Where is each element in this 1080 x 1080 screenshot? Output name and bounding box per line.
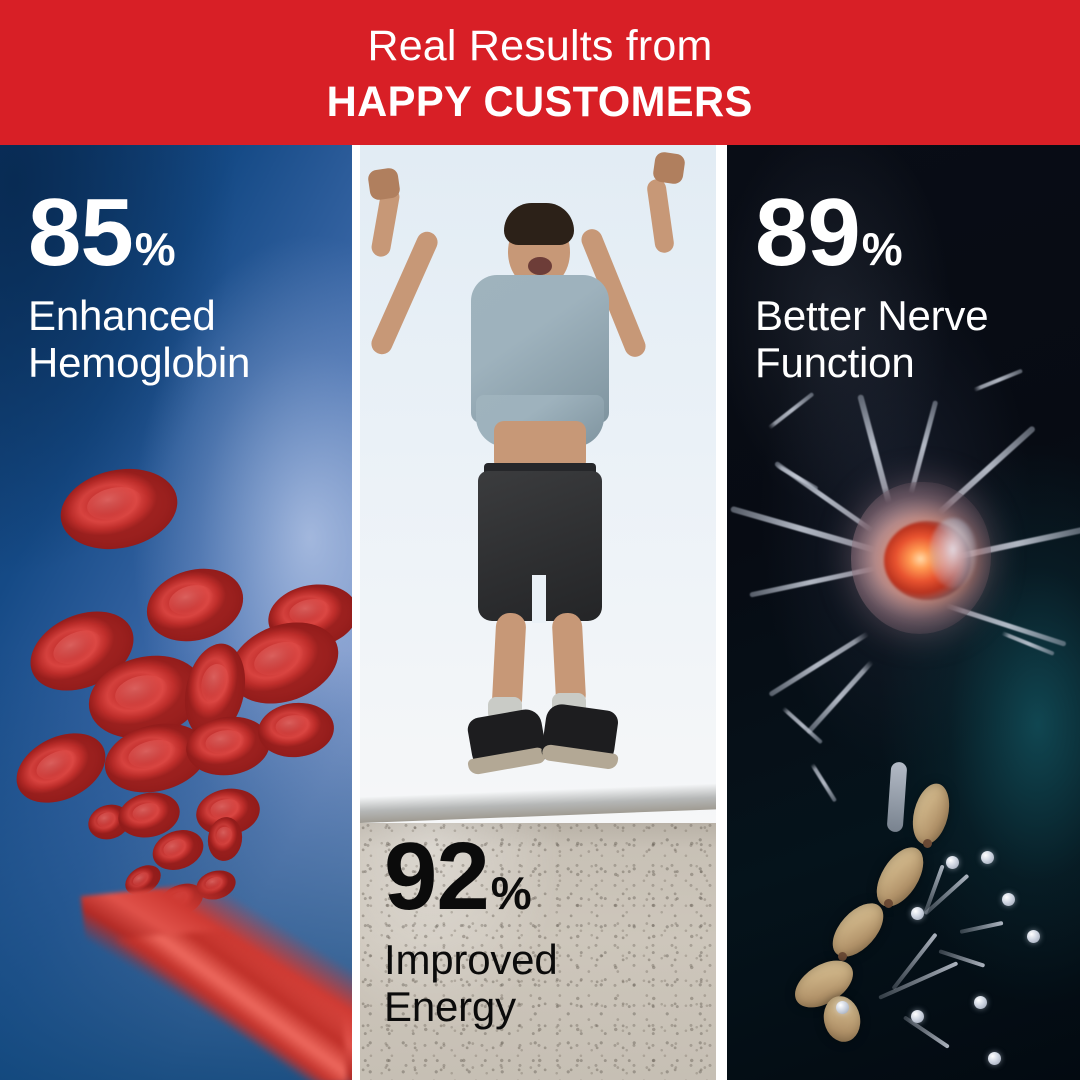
stat-label-line1: Better Nerve xyxy=(755,292,988,339)
synaptic-bouton xyxy=(911,907,924,920)
node-of-ranvier xyxy=(923,839,932,848)
stat-label: Better Nerve Function xyxy=(755,292,988,386)
stat-value-row: 85 % xyxy=(28,187,250,278)
header-title-line1: Real Results from xyxy=(367,25,712,68)
stat-value-row: 89 % xyxy=(755,187,988,278)
stat-label-line2: Energy xyxy=(384,983,557,1030)
nucleus-highlight xyxy=(929,518,977,588)
stat-energy: 92 % Improved Energy xyxy=(384,831,557,1030)
synaptic-bouton xyxy=(946,856,959,869)
stat-label-line1: Improved xyxy=(384,936,557,983)
infographic-poster: Real Results from HAPPY CUSTOMERS xyxy=(0,0,1080,1080)
neuron-cell-body xyxy=(851,482,991,634)
synaptic-bouton xyxy=(981,851,994,864)
panel-nerve: 89 % Better Nerve Function xyxy=(727,145,1080,1080)
stat-hemoglobin: 85 % Enhanced Hemoglobin xyxy=(28,187,250,386)
stat-nerve: 89 % Better Nerve Function xyxy=(755,187,988,386)
header-banner: Real Results from HAPPY CUSTOMERS xyxy=(0,0,1080,145)
stat-unit: % xyxy=(862,228,903,272)
node-of-ranvier xyxy=(884,899,893,908)
stat-value: 85 xyxy=(28,187,133,278)
stat-label: Improved Energy xyxy=(384,936,557,1030)
panel-hemoglobin: 85 % Enhanced Hemoglobin xyxy=(0,145,352,1080)
stat-value: 92 xyxy=(384,831,489,922)
shorts-gap xyxy=(532,575,546,623)
stat-label-line2: Function xyxy=(755,339,988,386)
synaptic-bouton xyxy=(836,1001,849,1014)
right-fist xyxy=(652,151,686,185)
hair xyxy=(504,203,574,245)
stat-label: Enhanced Hemoglobin xyxy=(28,292,250,386)
synaptic-bouton xyxy=(974,996,987,1009)
left-fist xyxy=(367,167,401,201)
right-forearm xyxy=(646,178,675,254)
stat-label-line2: Hemoglobin xyxy=(28,339,250,386)
blood-vessel-highlight xyxy=(117,923,348,1080)
panel-energy: 92 % Improved Energy xyxy=(360,145,716,1080)
stat-label-line1: Enhanced xyxy=(28,292,250,339)
header-title-line2: HAPPY CUSTOMERS xyxy=(327,81,753,124)
synaptic-bouton xyxy=(911,1010,924,1023)
stat-value: 89 xyxy=(755,187,860,278)
open-mouth xyxy=(528,257,552,275)
stat-unit: % xyxy=(135,228,176,272)
stat-value-row: 92 % xyxy=(384,831,557,922)
panel-strip: 85 % Enhanced Hemoglobin xyxy=(0,145,1080,1080)
stat-unit: % xyxy=(491,872,532,916)
